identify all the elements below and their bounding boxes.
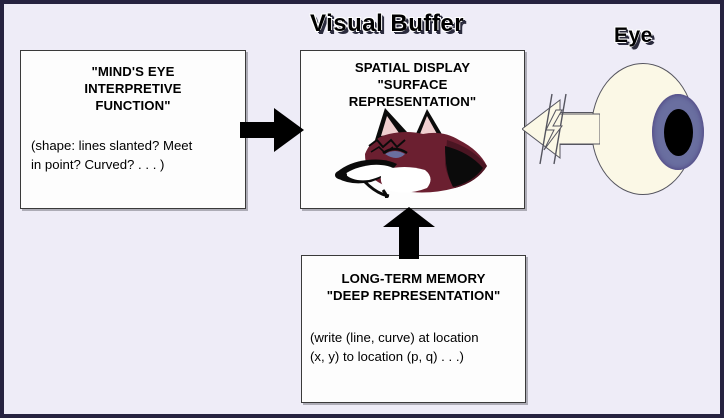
page-title-visual-buffer: Visual Buffer xyxy=(310,10,464,38)
arrow-up-memory-to-display-icon xyxy=(381,207,437,259)
minds-eye-title-line-3: FUNCTION" xyxy=(21,97,245,114)
long-term-memory-box-detail: (write (line, curve) at location (x, y) … xyxy=(302,328,525,366)
ltm-title-line-2: "DEEP REPRESENTATION" xyxy=(302,287,525,304)
ltm-detail-line-2: (x, y) to location (p, q) . . .) xyxy=(310,347,517,366)
minds-eye-detail-line-2: in point? Curved? . . . ) xyxy=(31,155,235,174)
eye-iris xyxy=(652,94,704,170)
long-term-memory-box-title: LONG-TERM MEMORY "DEEP REPRESENTATION" xyxy=(302,270,525,304)
ltm-detail-line-1: (write (line, curve) at location xyxy=(310,328,517,347)
diagram-canvas: Visual Buffer Eye "MIND'S EYE INTERPRETI… xyxy=(0,0,724,418)
minds-eye-box: "MIND'S EYE INTERPRETIVE FUNCTION" (shap… xyxy=(20,50,246,209)
eye-pupil xyxy=(664,109,693,156)
minds-eye-box-title: "MIND'S EYE INTERPRETIVE FUNCTION" xyxy=(21,63,245,114)
minds-eye-detail-line-1: (shape: lines slanted? Meet xyxy=(31,136,235,155)
spatial-display-box: SPATIAL DISPLAY "SURFACE REPRESENTATION" xyxy=(300,50,525,209)
spatial-display-title-line-2: "SURFACE xyxy=(301,76,524,93)
minds-eye-title-line-1: "MIND'S EYE xyxy=(21,63,245,80)
page-title-eye: Eye xyxy=(614,24,653,48)
eyeball xyxy=(591,63,695,195)
fox-head-icon xyxy=(327,106,502,198)
minds-eye-title-line-2: INTERPRETIVE xyxy=(21,80,245,97)
arrow-left-eye-to-display-icon xyxy=(522,92,600,166)
arrow-right-interpretive-to-display-icon xyxy=(240,106,304,154)
spatial-display-box-title: SPATIAL DISPLAY "SURFACE REPRESENTATION" xyxy=(301,59,524,110)
spatial-display-title-line-1: SPATIAL DISPLAY xyxy=(301,59,524,76)
ltm-title-line-1: LONG-TERM MEMORY xyxy=(302,270,525,287)
minds-eye-box-detail: (shape: lines slanted? Meet in point? Cu… xyxy=(21,136,245,174)
long-term-memory-box: LONG-TERM MEMORY "DEEP REPRESENTATION" (… xyxy=(301,255,526,403)
